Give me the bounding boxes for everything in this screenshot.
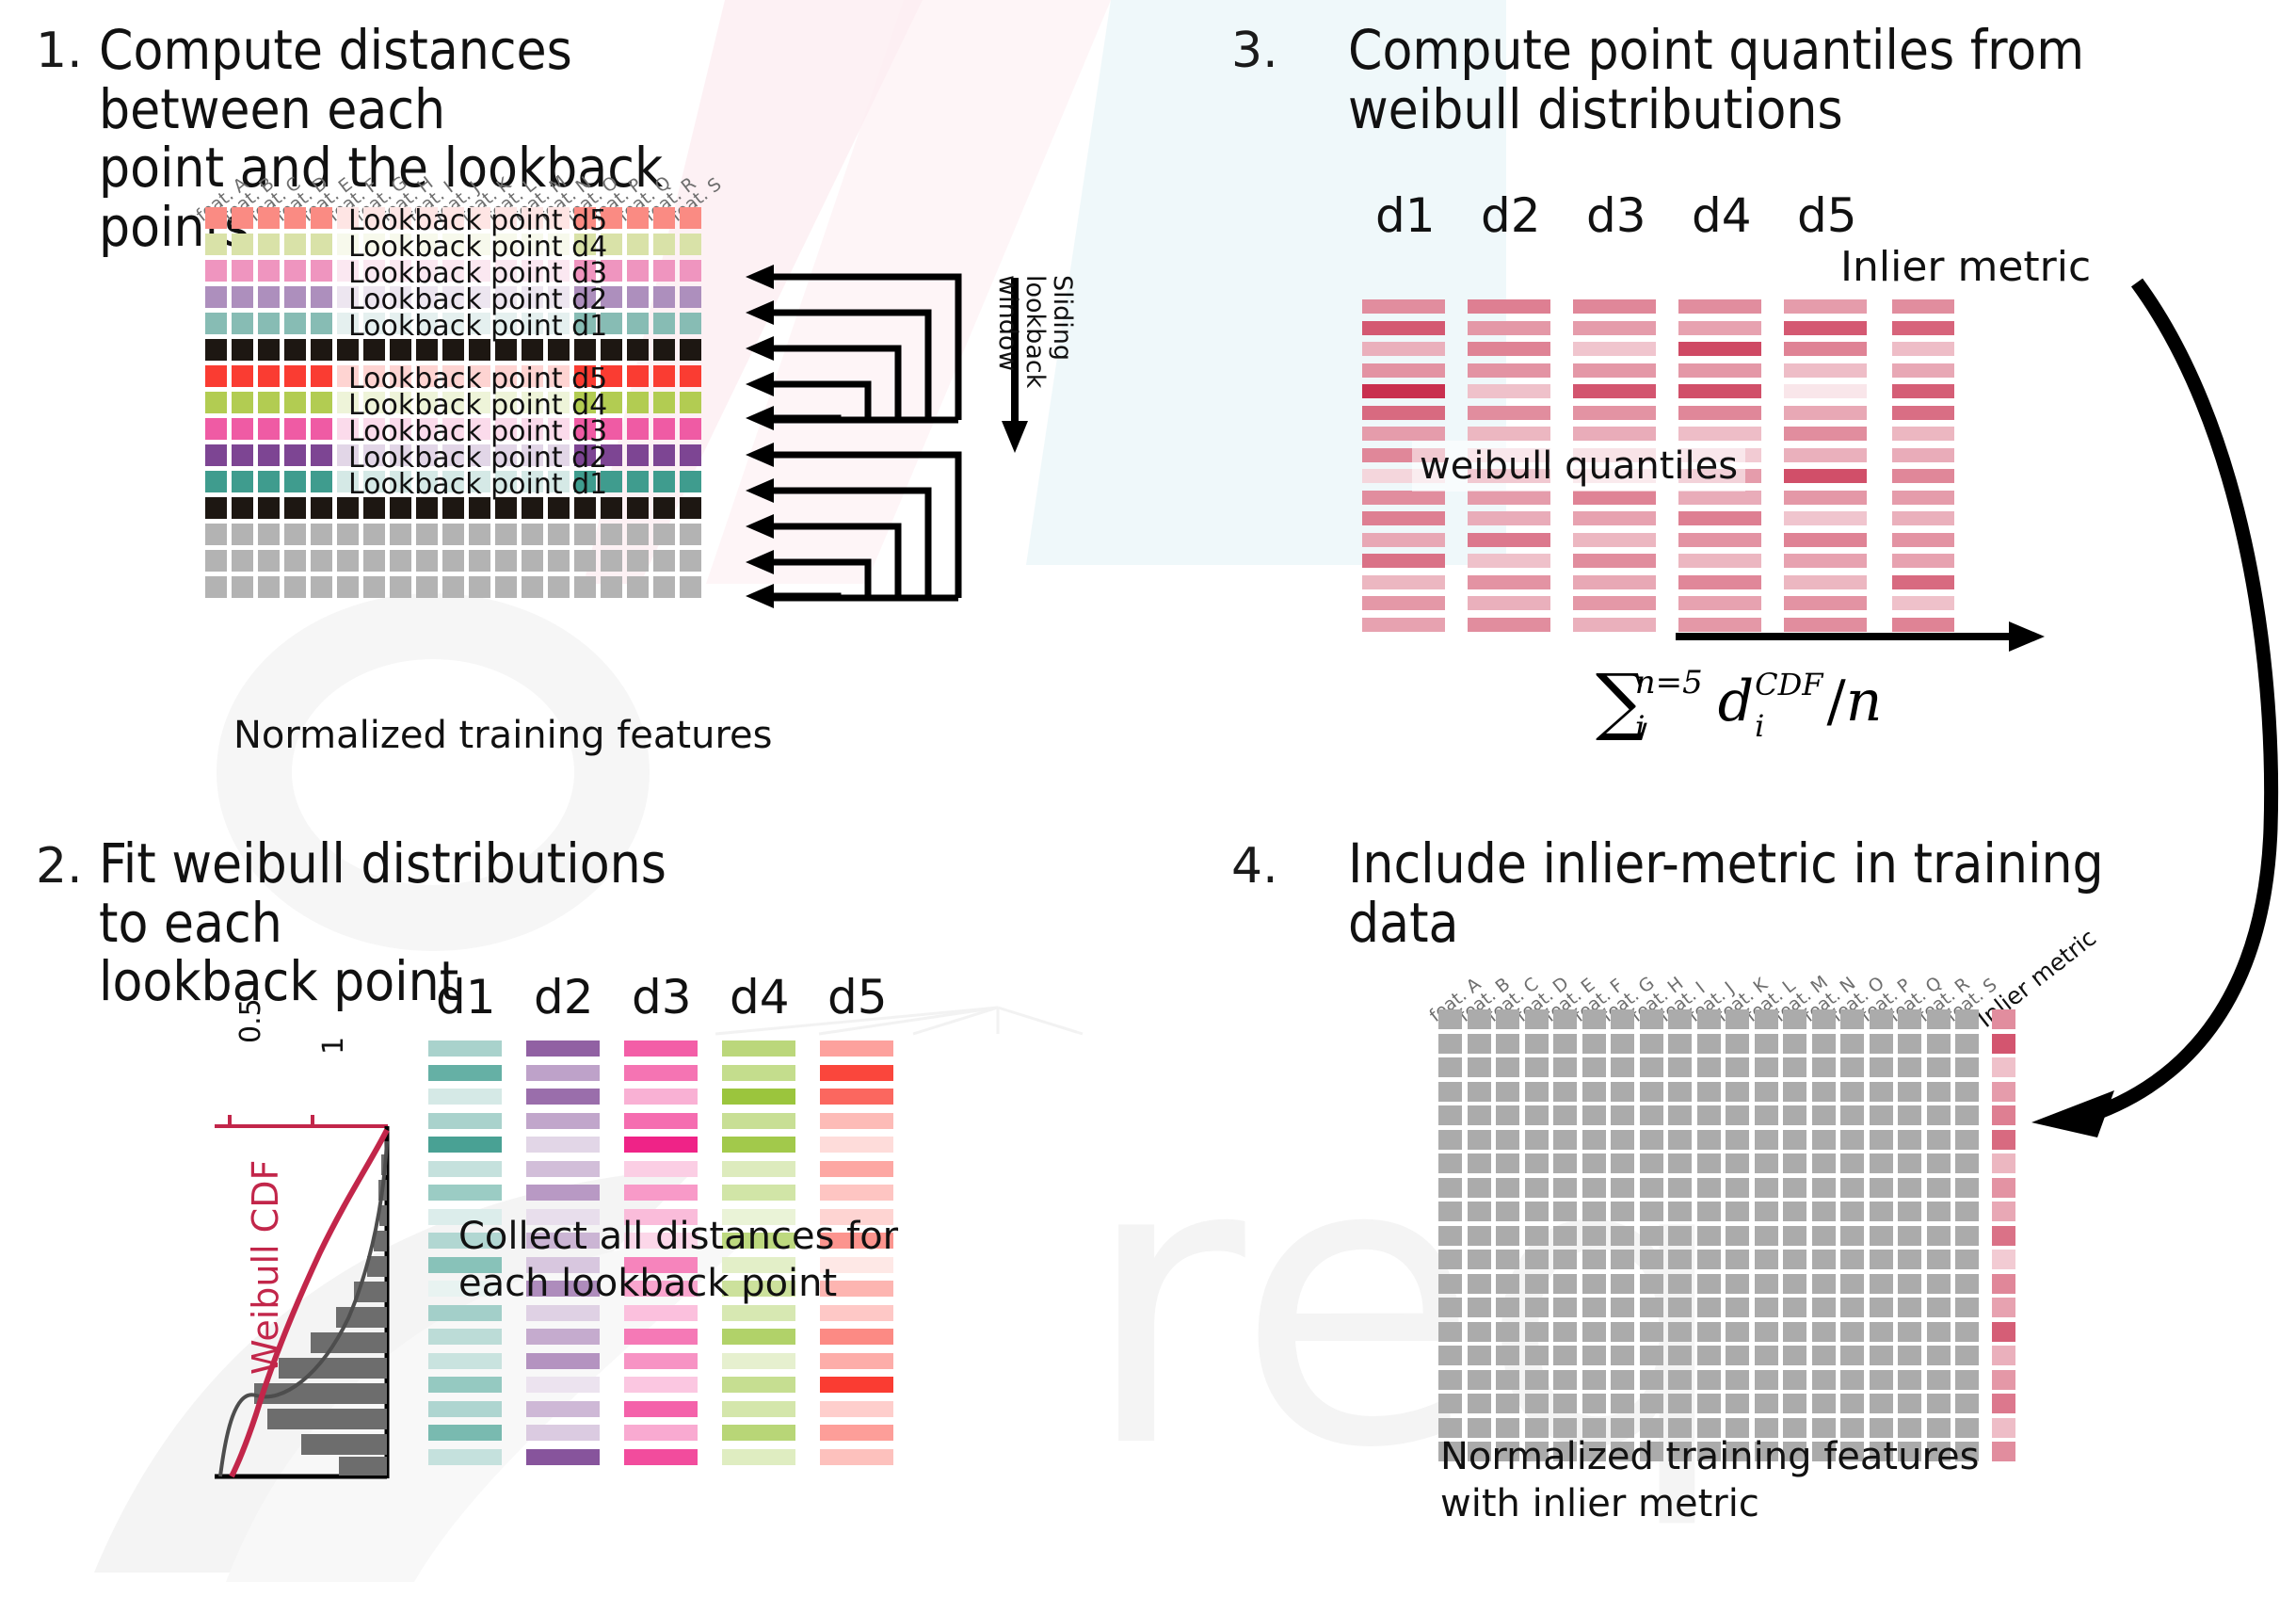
quantile-bar: [1468, 406, 1550, 420]
grid-cell: [1468, 1178, 1491, 1198]
grid-cell: [1726, 1322, 1749, 1342]
grid-cell: [1812, 1178, 1836, 1198]
grid-cell: [258, 576, 280, 598]
inlier-metric-bar: [1892, 363, 1954, 378]
grid-cell: [653, 313, 675, 334]
grid-cell: [1955, 1130, 1979, 1150]
grid-cell: [680, 207, 701, 229]
grid-cell: [205, 444, 227, 466]
grid-cell: [680, 444, 701, 466]
grid-cell: [1783, 1394, 1806, 1413]
grid-cell: [1496, 1130, 1519, 1150]
panel4-grid-row: [1438, 1298, 2015, 1317]
grid-cell: [1468, 1130, 1491, 1150]
inlier-metric-bar: [1892, 554, 1954, 568]
distance-bar: [428, 1137, 502, 1153]
grid-cell: [1812, 1202, 1836, 1221]
grid-cell: [1582, 1130, 1606, 1150]
grid-cell: [1582, 1202, 1606, 1221]
quantile-bar: [1468, 533, 1550, 547]
grid-cell: [601, 524, 622, 545]
grid-cell: [1496, 1153, 1519, 1173]
grid-cell: [232, 471, 253, 492]
grid-cell: [311, 365, 332, 387]
grid-cell: [205, 286, 227, 308]
grid-cell: [627, 260, 649, 282]
grid-cell: [1525, 1274, 1549, 1294]
grid-cell: [1438, 1178, 1462, 1198]
grid-cell: [1553, 1082, 1577, 1102]
grid-cell: [232, 234, 253, 255]
grid-cell: [653, 286, 675, 308]
distance-bar: [820, 1089, 893, 1105]
grid-cell: [1553, 1370, 1577, 1390]
distance-bar: [526, 1113, 600, 1129]
grid-cell: [1870, 1130, 1893, 1150]
grid-cell: [1955, 1370, 1979, 1390]
grid-cell: [1927, 1250, 1951, 1269]
grid-cell: [680, 339, 701, 361]
grid-cell: [1668, 1130, 1692, 1150]
grid-cell: [1697, 1322, 1721, 1342]
inlier-metric-bar: [1892, 575, 1954, 589]
grid-cell: [205, 497, 227, 519]
inlier-metric-bar: [1892, 406, 1954, 420]
grid-cell: [1726, 1370, 1749, 1390]
inlier-metric-bar: [1892, 469, 1954, 483]
grid-cell: [469, 524, 490, 545]
quantile-bar: [1468, 342, 1550, 356]
grid-cell: [1783, 1370, 1806, 1390]
grid-cell: [574, 576, 596, 598]
inlier-metric-bar: [1892, 491, 1954, 505]
grid-cell: [1611, 1298, 1634, 1317]
distance-bar: [526, 1425, 600, 1441]
grid-cell: [1812, 1298, 1836, 1317]
inlier-metric-cell: [1992, 1202, 2015, 1221]
quantile-bar: [1573, 299, 1656, 314]
grid-cell: [1955, 1034, 1979, 1054]
grid-cell: [311, 339, 332, 361]
grid-cell: [1496, 1105, 1519, 1125]
grid-cell: [1640, 1274, 1663, 1294]
grid-cell: [1840, 1226, 1864, 1246]
grid-cell: [1726, 1105, 1749, 1125]
grid-cell: [1755, 1009, 1778, 1029]
distance-bar: [624, 1137, 698, 1153]
grid-cell: [1755, 1346, 1778, 1365]
grid-cell: [627, 286, 649, 308]
grid-cell: [1870, 1322, 1893, 1342]
grid-cell: [1840, 1057, 1864, 1077]
step-2-title: Fit weibull distributions to each lookba…: [99, 834, 701, 1011]
grid-cell: [1697, 1346, 1721, 1365]
grid-cell: [1955, 1202, 1979, 1221]
grid-cell: [1582, 1370, 1606, 1390]
grid-cell: [1525, 1105, 1549, 1125]
grid-cell: [653, 550, 675, 572]
distance-bar: [428, 1161, 502, 1177]
grid-cell: [1438, 1202, 1462, 1221]
grid-cell: [1870, 1034, 1893, 1054]
grid-cell: [1898, 1202, 1921, 1221]
grid-cell: [1898, 1105, 1921, 1125]
grid-cell: [653, 576, 675, 598]
grid-cell: [1611, 1226, 1634, 1246]
step-2-number: 2.: [36, 838, 83, 895]
quantile-bar: [1678, 406, 1761, 420]
quantile-bar: [1573, 342, 1656, 356]
grid-cell: [574, 524, 596, 545]
grid-cell: [1668, 1202, 1692, 1221]
grid-cell: [1438, 1105, 1462, 1125]
grid-cell: [442, 524, 464, 545]
panel2-overlay-text: Collect all distances for each lookback …: [458, 1213, 898, 1307]
distance-bar: [722, 1305, 795, 1321]
distance-bar: [624, 1305, 698, 1321]
grid-cell: [258, 471, 280, 492]
grid-cell: [1438, 1370, 1462, 1390]
grid-cell: [1840, 1274, 1864, 1294]
distance-bar: [624, 1089, 698, 1105]
grid-cell: [258, 286, 280, 308]
grid-cell: [1553, 1153, 1577, 1173]
grid-cell: [1840, 1082, 1864, 1102]
inlier-metric-bar: [1892, 596, 1954, 610]
grid-cell: [205, 576, 227, 598]
grid-cell: [1755, 1370, 1778, 1390]
quantile-bar: [1784, 427, 1867, 441]
grid-cell: [258, 234, 280, 255]
grid-cell: [232, 418, 253, 440]
distance-bar: [428, 1425, 502, 1441]
distance-bar: [428, 1065, 502, 1081]
inlier-metric-cell: [1992, 1082, 2015, 1102]
grid-cell: [1438, 1298, 1462, 1317]
distance-bar: [722, 1065, 795, 1081]
grid-cell: [1525, 1322, 1549, 1342]
grid-cell: [1755, 1394, 1778, 1413]
quantile-bar: [1573, 575, 1656, 589]
inlier-metric-bar: [1892, 448, 1954, 462]
distance-bar: [722, 1425, 795, 1441]
grid-cell: [1438, 1153, 1462, 1173]
grid-cell: [1783, 1250, 1806, 1269]
grid-cell: [1927, 1153, 1951, 1173]
quantile-bar: [1362, 363, 1445, 378]
panel3-d-label-d1: d1: [1375, 188, 1436, 243]
grid-cell: [232, 576, 253, 598]
distance-bar: [624, 1353, 698, 1369]
grid-cell: [495, 524, 517, 545]
panel3-formula: ∑n=5idCDFi/n: [1596, 659, 1882, 744]
grid-cell: [1783, 1082, 1806, 1102]
grid-cell: [258, 313, 280, 334]
grid-cell: [1611, 1153, 1634, 1173]
grid-cell: [680, 471, 701, 492]
grid-cell: [680, 497, 701, 519]
grid-cell: [680, 418, 701, 440]
grid-cell: [1898, 1082, 1921, 1102]
grid-cell: [680, 392, 701, 413]
grid-cell: [1726, 1250, 1749, 1269]
grid-cell: [311, 392, 332, 413]
grid-cell: [337, 524, 359, 545]
grid-cell: [311, 234, 332, 255]
grid-cell: [1468, 1370, 1491, 1390]
grid-cell: [1668, 1226, 1692, 1246]
quantile-bar: [1784, 448, 1867, 462]
grid-cell: [1812, 1153, 1836, 1173]
grid-cell: [574, 550, 596, 572]
quantile-bar: [1573, 406, 1656, 420]
grid-cell: [627, 339, 649, 361]
grid-cell: [680, 260, 701, 282]
grid-cell: [1840, 1370, 1864, 1390]
grid-cell: [653, 524, 675, 545]
grid-cell: [1812, 1034, 1836, 1054]
grid-cell: [1640, 1370, 1663, 1390]
grid-cell: [1640, 1346, 1663, 1365]
grid-cell: [1668, 1346, 1692, 1365]
grid-cell: [1525, 1057, 1549, 1077]
grid-cell: [1755, 1082, 1778, 1102]
grid-cell: [284, 471, 306, 492]
grid-cell: [601, 550, 622, 572]
inlier-metric-cell: [1992, 1178, 2015, 1198]
grid-cell: [1697, 1178, 1721, 1198]
panel4-caption: Normalized training features with inlier…: [1440, 1433, 1979, 1527]
inlier-metric-cell: [1992, 1250, 2015, 1269]
grid-cell: [205, 524, 227, 545]
quantile-bar: [1468, 575, 1550, 589]
grid-cell: [1668, 1082, 1692, 1102]
grid-cell: [416, 550, 438, 572]
grid-cell: [311, 471, 332, 492]
distance-bar: [722, 1329, 795, 1345]
quantile-bar: [1468, 596, 1550, 610]
grid-cell: [1611, 1034, 1634, 1054]
distance-bar: [722, 1185, 795, 1201]
grid-cell: [1496, 1322, 1519, 1342]
grid-cell: [416, 576, 438, 598]
panel4-grid-row: [1438, 1130, 2015, 1150]
grid-cell: [1870, 1370, 1893, 1390]
grid-cell: [232, 260, 253, 282]
grid-cell: [311, 550, 332, 572]
grid-cell: [1438, 1346, 1462, 1365]
grid-cell: [1525, 1370, 1549, 1390]
distance-bar: [526, 1161, 600, 1177]
grid-cell: [1525, 1394, 1549, 1413]
grid-cell: [1812, 1322, 1836, 1342]
grid-cell: [1783, 1274, 1806, 1294]
grid-cell: [1611, 1082, 1634, 1102]
grid-cell: [1898, 1057, 1921, 1077]
grid-cell: [1496, 1226, 1519, 1246]
grid-cell: [1582, 1346, 1606, 1365]
grid-cell: [311, 444, 332, 466]
grid-cell: [1755, 1153, 1778, 1173]
distance-bar: [624, 1401, 698, 1417]
quantile-bar: [1468, 554, 1550, 568]
grid-cell: [1755, 1057, 1778, 1077]
grid-cell: [1553, 1178, 1577, 1198]
grid-cell: [442, 550, 464, 572]
grid-cell: [1553, 1298, 1577, 1317]
grid-cell: [1812, 1226, 1836, 1246]
quantile-bar: [1784, 575, 1867, 589]
quantile-bar: [1573, 427, 1656, 441]
quantile-bar: [1362, 491, 1445, 505]
grid-cell: [1840, 1178, 1864, 1198]
grid-cell: [1668, 1322, 1692, 1342]
quantile-bar: [1678, 491, 1761, 505]
grid-cell: [1438, 1057, 1462, 1077]
grid-cell: [1468, 1105, 1491, 1125]
grid-cell: [1840, 1250, 1864, 1269]
grid-cell: [1870, 1226, 1893, 1246]
grid-cell: [311, 576, 332, 598]
grid-cell: [1468, 1322, 1491, 1342]
grid-cell: [258, 339, 280, 361]
distance-bar: [624, 1040, 698, 1057]
grid-cell: [1668, 1009, 1692, 1029]
grid-cell: [284, 313, 306, 334]
grid-cell: [1640, 1130, 1663, 1150]
grid-cell: [469, 576, 490, 598]
grid-cell: [495, 576, 517, 598]
quantile-bar: [1784, 491, 1867, 505]
distance-bar: [820, 1305, 893, 1321]
grid-cell: [1525, 1130, 1549, 1150]
grid-cell: [1898, 1322, 1921, 1342]
inlier-metric-cell: [1992, 1009, 2015, 1029]
grid-cell: [1525, 1346, 1549, 1365]
grid-cell: [284, 418, 306, 440]
grid-cell: [205, 313, 227, 334]
grid-cell: [1697, 1153, 1721, 1173]
grid-cell: [1640, 1105, 1663, 1125]
grid-cell: [1870, 1082, 1893, 1102]
grid-cell: [1525, 1202, 1549, 1221]
grid-cell: [1553, 1322, 1577, 1342]
panel4-grid-row: [1438, 1153, 2015, 1173]
grid-cell: [284, 365, 306, 387]
grid-cell: [1496, 1057, 1519, 1077]
grid-cell: [1468, 1346, 1491, 1365]
quantile-bar: [1573, 511, 1656, 525]
grid-cell: [1582, 1105, 1606, 1125]
quantile-bar: [1784, 384, 1867, 398]
grid-cell: [1525, 1034, 1549, 1054]
grid-cell: [1783, 1298, 1806, 1317]
distance-bar: [526, 1065, 600, 1081]
grid-cell: [1640, 1322, 1663, 1342]
panel4-grid-row: [1438, 1082, 2015, 1102]
distance-bar: [428, 1305, 502, 1321]
grid-cell: [1840, 1105, 1864, 1125]
grid-cell: [1870, 1394, 1893, 1413]
grid-cell: [1927, 1178, 1951, 1198]
grid-cell: [390, 524, 411, 545]
grid-cell: [1927, 1274, 1951, 1294]
grid-cell: [205, 392, 227, 413]
grid-cell: [627, 313, 649, 334]
grid-cell: [258, 524, 280, 545]
grid-cell: [1553, 1250, 1577, 1269]
grid-cell: [1611, 1105, 1634, 1125]
grid-cell: [1955, 1105, 1979, 1125]
grid-cell: [1783, 1346, 1806, 1365]
grid-cell: [1640, 1226, 1663, 1246]
quantile-bar: [1678, 299, 1761, 314]
grid-cell: [1640, 1009, 1663, 1029]
panel4-grid-row: [1438, 1250, 2015, 1269]
grid-cell: [1553, 1394, 1577, 1413]
panel4-grid-row: [1438, 1105, 2015, 1125]
grid-cell: [337, 576, 359, 598]
grid-cell: [258, 550, 280, 572]
quantile-bar: [1468, 363, 1550, 378]
grid-cell: [232, 550, 253, 572]
grid-cell: [653, 392, 675, 413]
grid-cell: [1468, 1298, 1491, 1317]
quantile-bar: [1678, 554, 1761, 568]
distance-bar: [820, 1065, 893, 1081]
grid-cell: [205, 550, 227, 572]
grid-cell: [1927, 1322, 1951, 1342]
grid-cell: [1898, 1034, 1921, 1054]
grid-cell: [1697, 1057, 1721, 1077]
grid-cell: [1697, 1394, 1721, 1413]
grid-cell: [1468, 1153, 1491, 1173]
panel1-grid-row: [205, 550, 706, 572]
grid-cell: [1755, 1226, 1778, 1246]
grid-cell: [284, 339, 306, 361]
grid-cell: [1812, 1105, 1836, 1125]
grid-cell: [1438, 1274, 1462, 1294]
grid-cell: [1582, 1153, 1606, 1173]
grid-cell: [680, 313, 701, 334]
grid-cell: [1955, 1082, 1979, 1102]
grid-cell: [1927, 1226, 1951, 1246]
grid-cell: [627, 365, 649, 387]
grid-cell: [311, 497, 332, 519]
grid-cell: [1726, 1202, 1749, 1221]
grid-cell: [205, 234, 227, 255]
grid-cell: [284, 550, 306, 572]
panel1-bracket-arrows-top: [753, 260, 979, 448]
distance-bar: [428, 1185, 502, 1201]
grid-cell: [1755, 1105, 1778, 1125]
panel1-bracket-arrows-bottom: [753, 436, 979, 624]
grid-cell: [680, 234, 701, 255]
grid-cell: [1668, 1153, 1692, 1173]
grid-cell: [1582, 1250, 1606, 1269]
inlier-metric-cell: [1992, 1394, 2015, 1413]
panel1-feature-labels: feat. Afeat. Bfeat. Cfeat. Dfeat. Efeat.…: [205, 162, 695, 204]
grid-cell: [1955, 1298, 1979, 1317]
grid-cell: [601, 576, 622, 598]
grid-cell: [1468, 1009, 1491, 1029]
grid-cell: [1898, 1346, 1921, 1365]
grid-cell: [1726, 1153, 1749, 1173]
grid-cell: [1755, 1298, 1778, 1317]
grid-cell: [1783, 1057, 1806, 1077]
panel1-grid-row: [205, 524, 706, 545]
grid-cell: [1611, 1130, 1634, 1150]
